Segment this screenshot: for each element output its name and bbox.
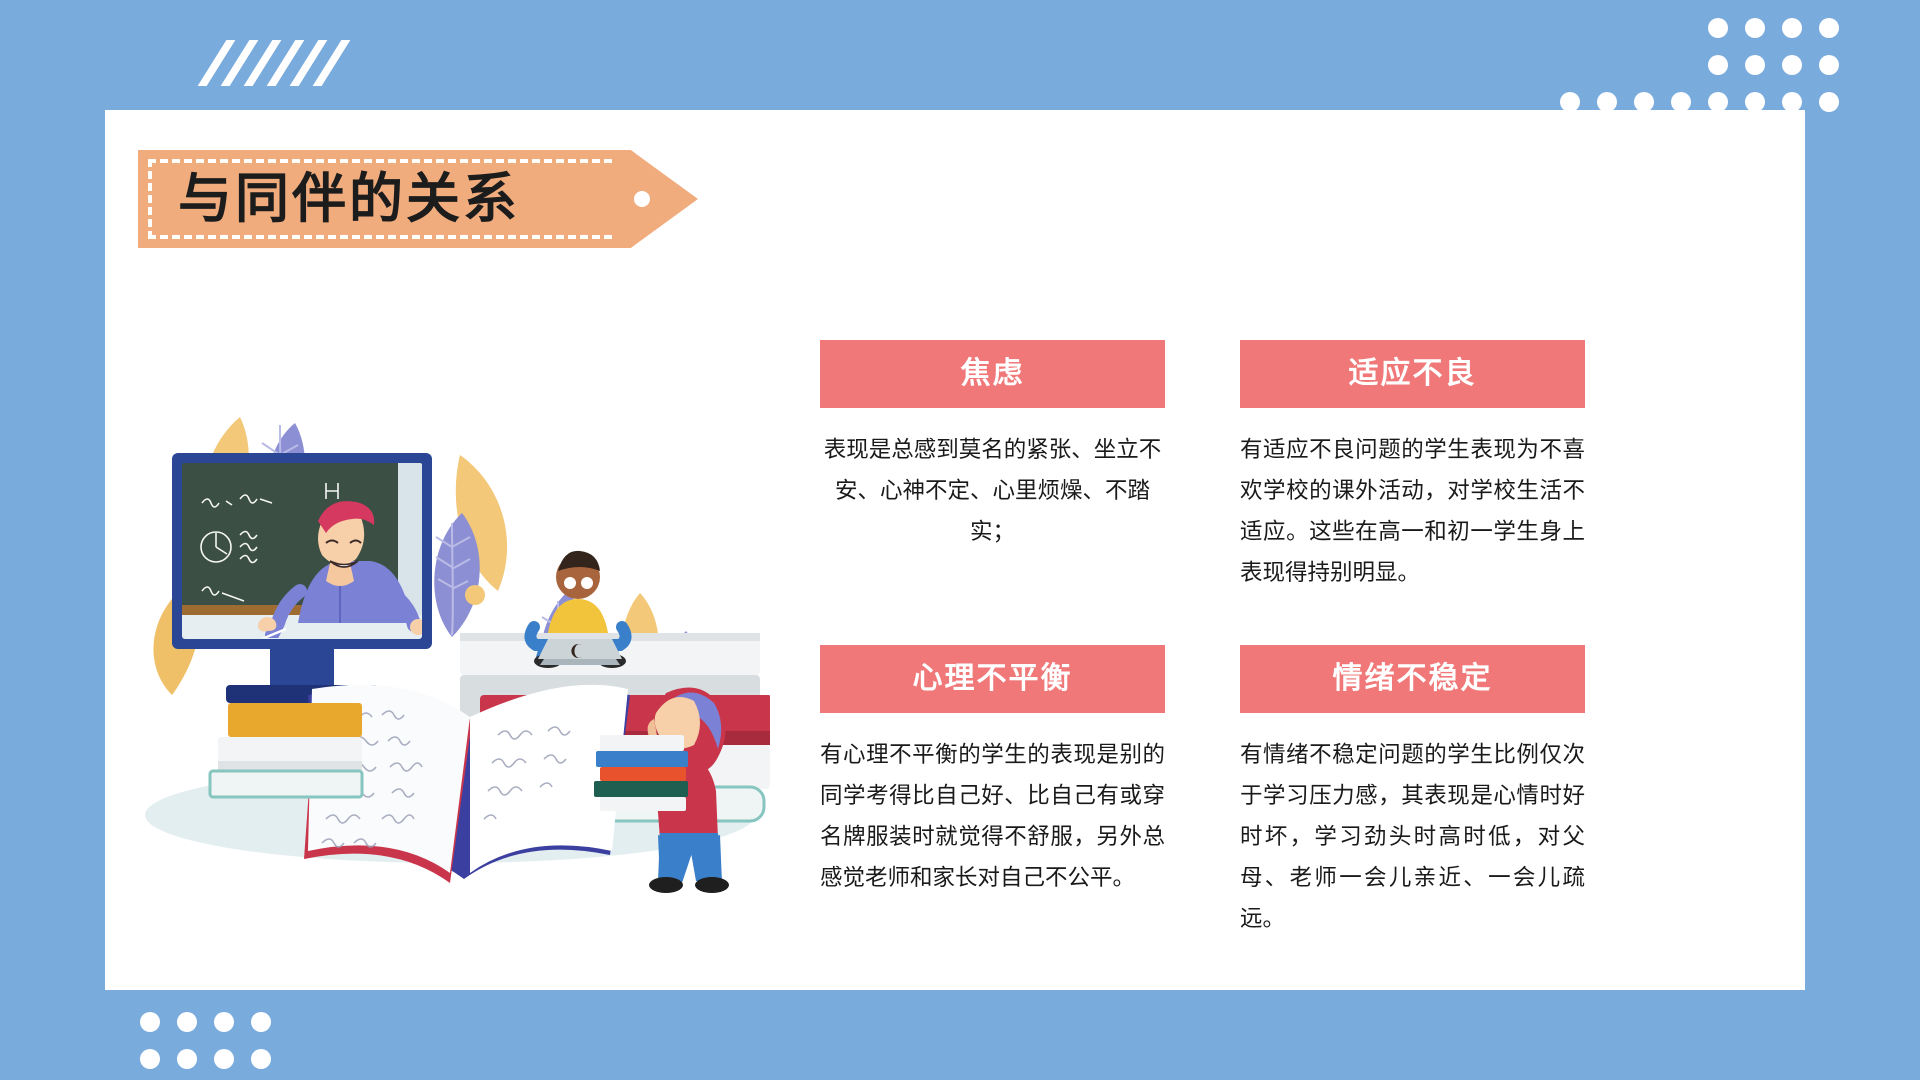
education-illustration	[130, 395, 770, 895]
page-title: 与同伴的关系	[178, 150, 520, 248]
decor-dot	[1782, 18, 1802, 38]
decor-dot	[251, 1012, 271, 1032]
decor-dot	[1634, 92, 1654, 112]
card-body: 有心理不平衡的学生的表现是别的同学考得比自己好、比自己有或穿名牌服装时就觉得不舒…	[820, 735, 1165, 899]
decor-dot	[1782, 55, 1802, 75]
card-title: 焦虑	[820, 340, 1165, 408]
decor-dot	[177, 1012, 197, 1032]
decor-dot	[251, 1049, 271, 1069]
decor-dot	[1819, 55, 1839, 75]
card-title: 心理不平衡	[820, 645, 1165, 713]
diagonal-slashes-icon	[212, 40, 362, 88]
decor-dot	[1745, 55, 1765, 75]
book-stack-left	[210, 703, 362, 797]
student-with-laptop	[530, 551, 626, 668]
decor-dot	[1708, 92, 1728, 112]
decor-dot	[1782, 92, 1802, 112]
decor-dot	[177, 1049, 197, 1069]
card-emotional-instability: 情绪不稳定 有情绪不稳定问题的学生比例仅次于学习压力感，其表现是心情时好时坏，学…	[1240, 645, 1585, 940]
dot-grid-bottom-left	[140, 1012, 280, 1068]
title-banner: 与同伴的关系	[138, 150, 698, 248]
decor-dot	[1745, 92, 1765, 112]
card-maladjustment: 适应不良 有适应不良问题的学生表现为不喜欢学校的课外活动，对学校生活不适应。这些…	[1240, 340, 1585, 594]
monitor	[172, 453, 432, 703]
decor-dot	[140, 1049, 160, 1069]
decor-dot	[1819, 92, 1839, 112]
card-title: 适应不良	[1240, 340, 1585, 408]
decor-dot	[214, 1012, 234, 1032]
card-anxiety: 焦虑 表现是总感到莫名的紧张、坐立不安、心神不定、心里烦燥、不踏实；	[820, 340, 1165, 553]
card-psychological-imbalance: 心理不平衡 有心理不平衡的学生的表现是别的同学考得比自己好、比自己有或穿名牌服装…	[820, 645, 1165, 899]
slide-root: 与同伴的关系	[0, 0, 1920, 1080]
decor-dot	[1745, 18, 1765, 38]
decor-dot	[1597, 92, 1617, 112]
decor-dot	[1708, 55, 1728, 75]
card-body: 有适应不良问题的学生表现为不喜欢学校的课外活动，对学校生活不适应。这些在高一和初…	[1240, 430, 1585, 594]
decor-dot	[1819, 18, 1839, 38]
title-banner-knob-icon	[634, 191, 650, 207]
decor-dot	[1708, 18, 1728, 38]
card-body: 表现是总感到莫名的紧张、坐立不安、心神不定、心里烦燥、不踏实；	[820, 430, 1165, 553]
decor-dot	[1560, 92, 1580, 112]
decor-dot	[214, 1049, 234, 1069]
card-body: 有情绪不稳定问题的学生比例仅次于学习压力感，其表现是心情时好时坏，学习劲头时高时…	[1240, 735, 1585, 940]
dot-grid-top-right	[1560, 18, 1900, 108]
decor-dot	[1671, 92, 1691, 112]
card-title: 情绪不稳定	[1240, 645, 1585, 713]
decor-dot	[140, 1012, 160, 1032]
